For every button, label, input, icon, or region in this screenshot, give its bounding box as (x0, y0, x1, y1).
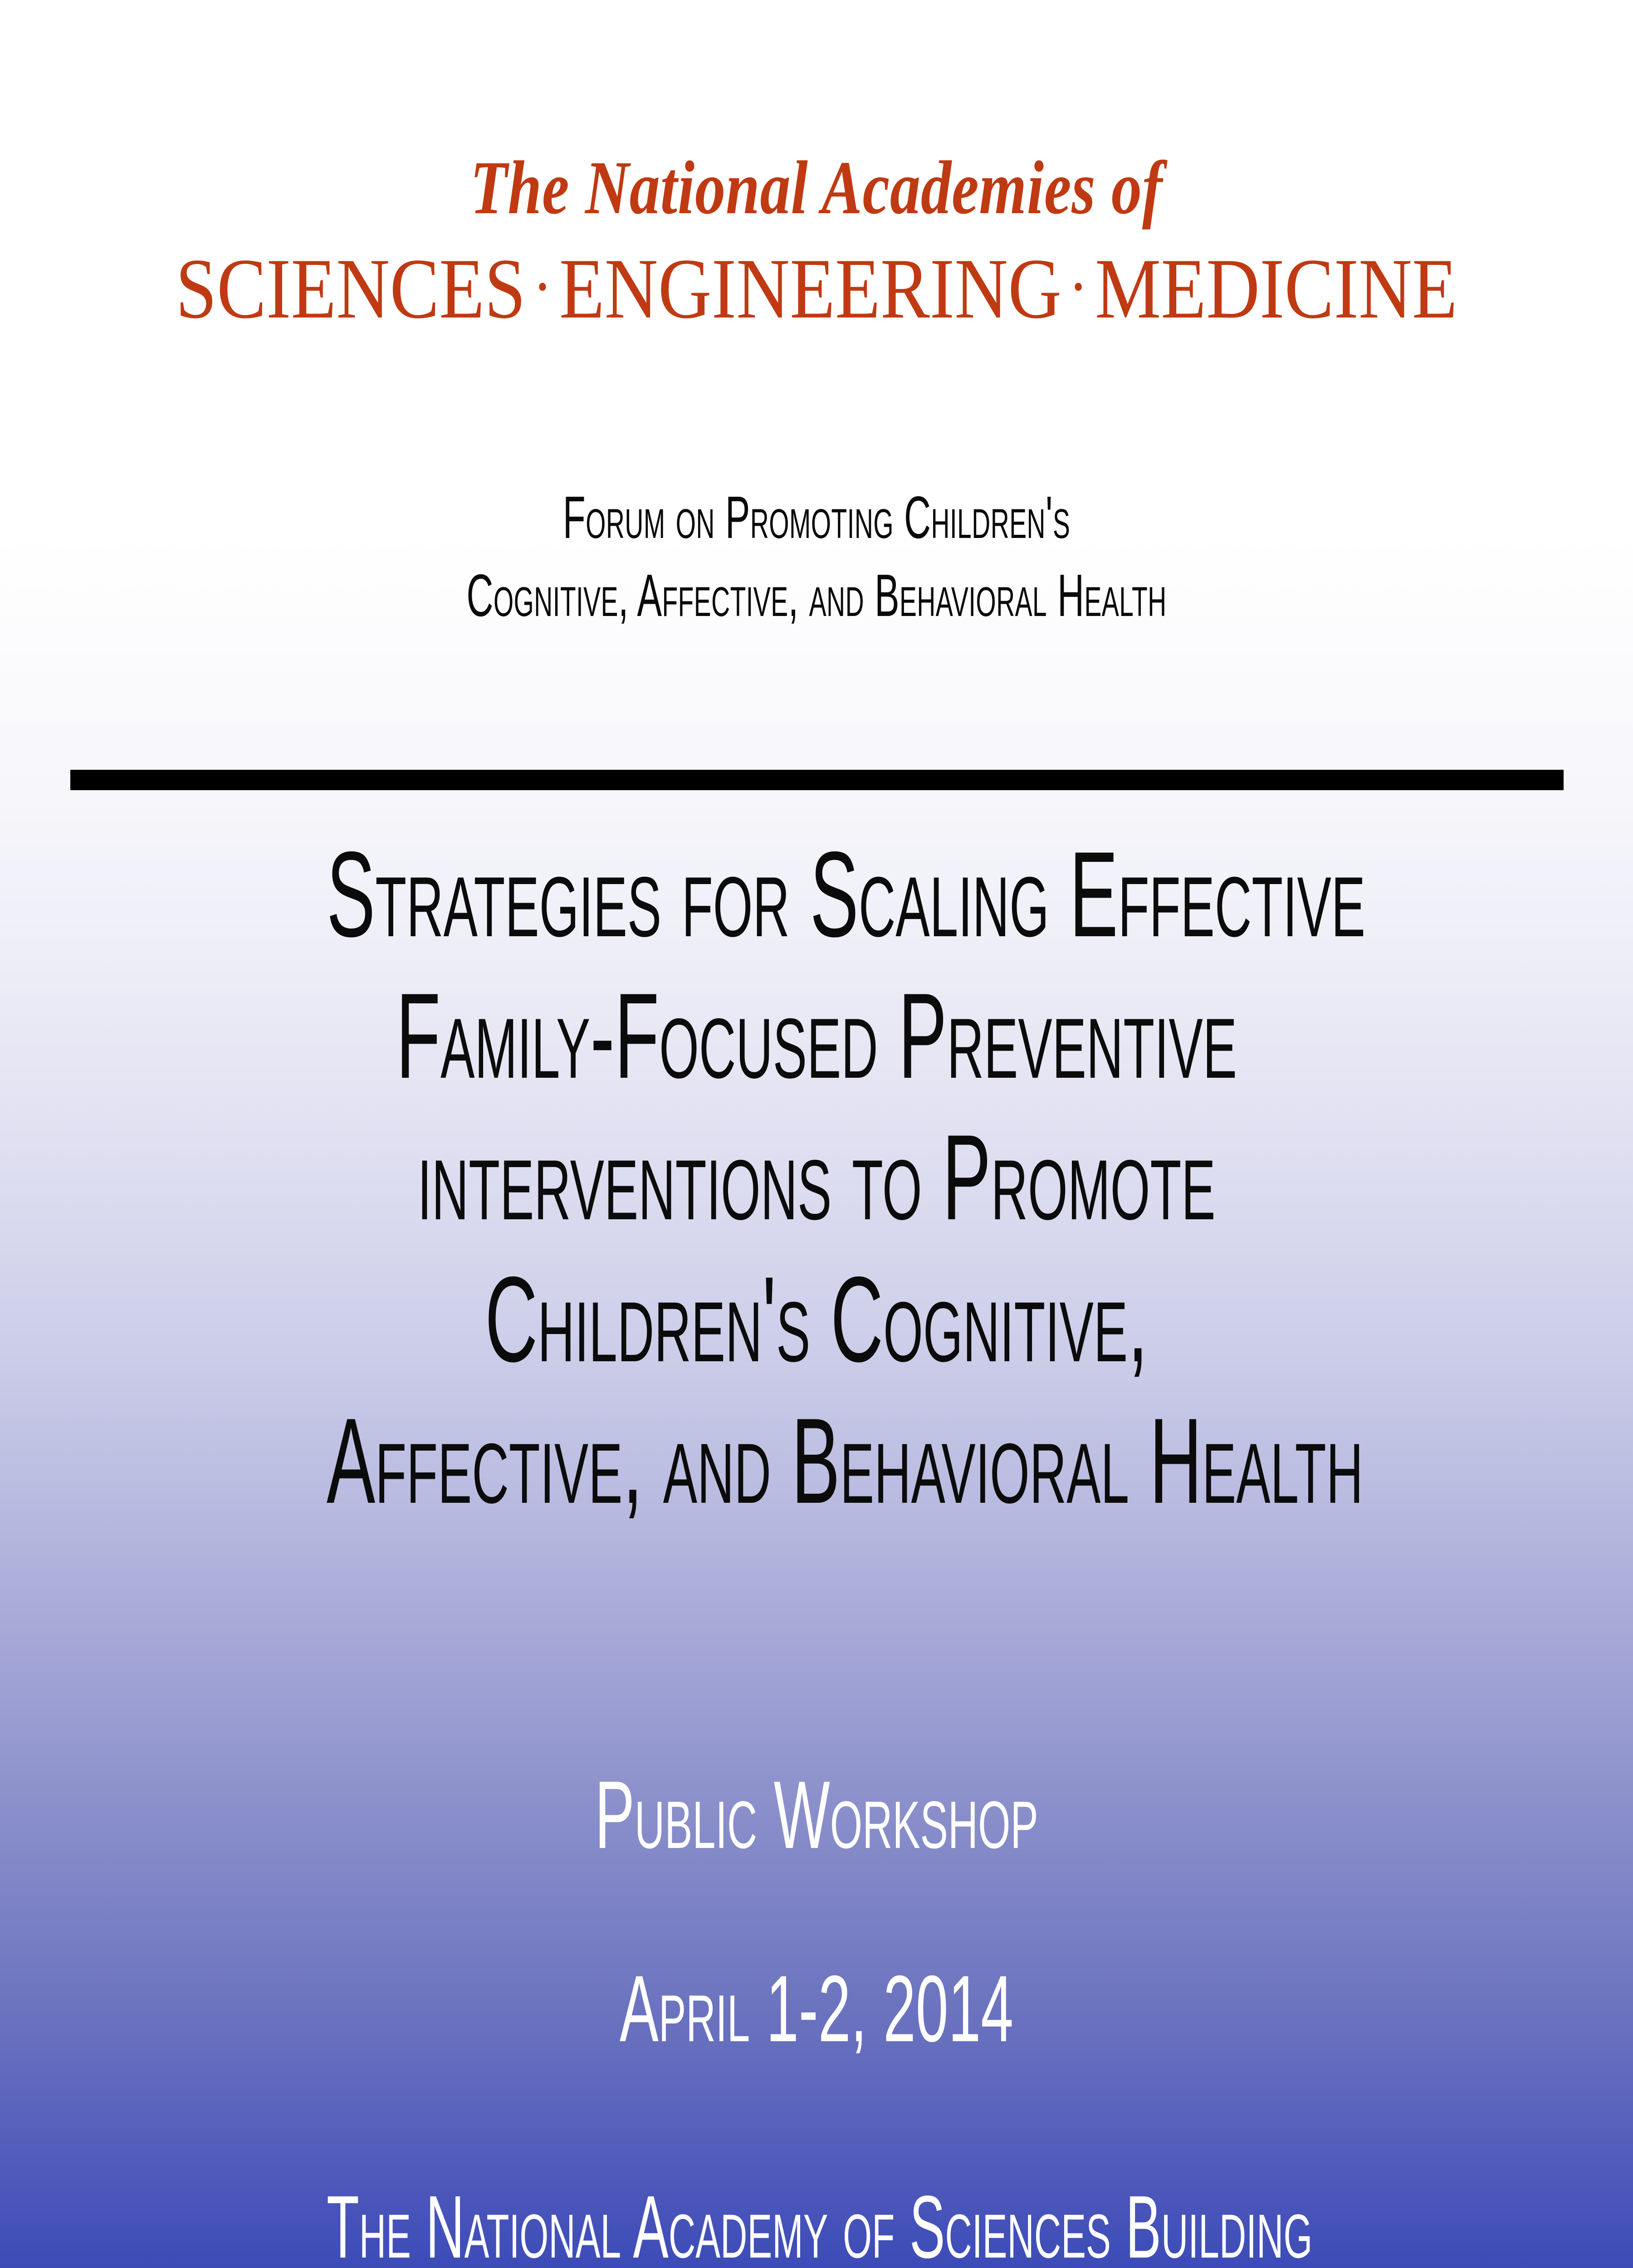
workshop-poster: The National Academies of SCIENCES·ENGIN… (0, 0, 1633, 2268)
brand-separator-dot-1: · (526, 249, 559, 324)
divider-rule (70, 770, 1564, 790)
event-dates: April 1-2, 2014 (0, 1962, 1633, 2056)
event-dates-label: April 1-2, 2014 (310, 1962, 1323, 2056)
title-line-1: Strategies for Scaling Effective (327, 823, 1306, 965)
title-line-3: interventions to Promote (327, 1106, 1306, 1248)
brand-sciences: SCIENCES (176, 241, 526, 337)
title-line-4: Children's Cognitive, (327, 1248, 1306, 1390)
forum-line-1: Forum on Promoting Children's (310, 479, 1323, 557)
title-line-5: Affective, and Behavioral Health (327, 1390, 1306, 1531)
brand-engineering: ENGINEERING (559, 241, 1061, 337)
brand-script-line: The National Academies of (163, 150, 1470, 226)
brand-disciplines-line: SCIENCES·ENGINEERING·MEDICINE (114, 246, 1519, 332)
brand-medicine: MEDICINE (1095, 241, 1457, 337)
event-type: Public Workshop (0, 1767, 1633, 1863)
event-venue: The National Academy of Sciences Buildin… (0, 2173, 1633, 2268)
venue-line-1: The National Academy of Sciences Buildin… (327, 2173, 1306, 2268)
national-academies-logo: The National Academies of SCIENCES·ENGIN… (0, 150, 1633, 332)
event-type-label: Public Workshop (310, 1767, 1323, 1863)
title-line-2: Family-Focused Preventive (327, 965, 1306, 1106)
forum-name: Forum on Promoting Children's Cognitive,… (0, 479, 1633, 634)
page-title: Strategies for Scaling Effective Family-… (0, 823, 1633, 1531)
forum-line-2: Cognitive, Affective, and Behavioral Hea… (310, 557, 1323, 635)
brand-separator-dot-2: · (1061, 249, 1095, 324)
